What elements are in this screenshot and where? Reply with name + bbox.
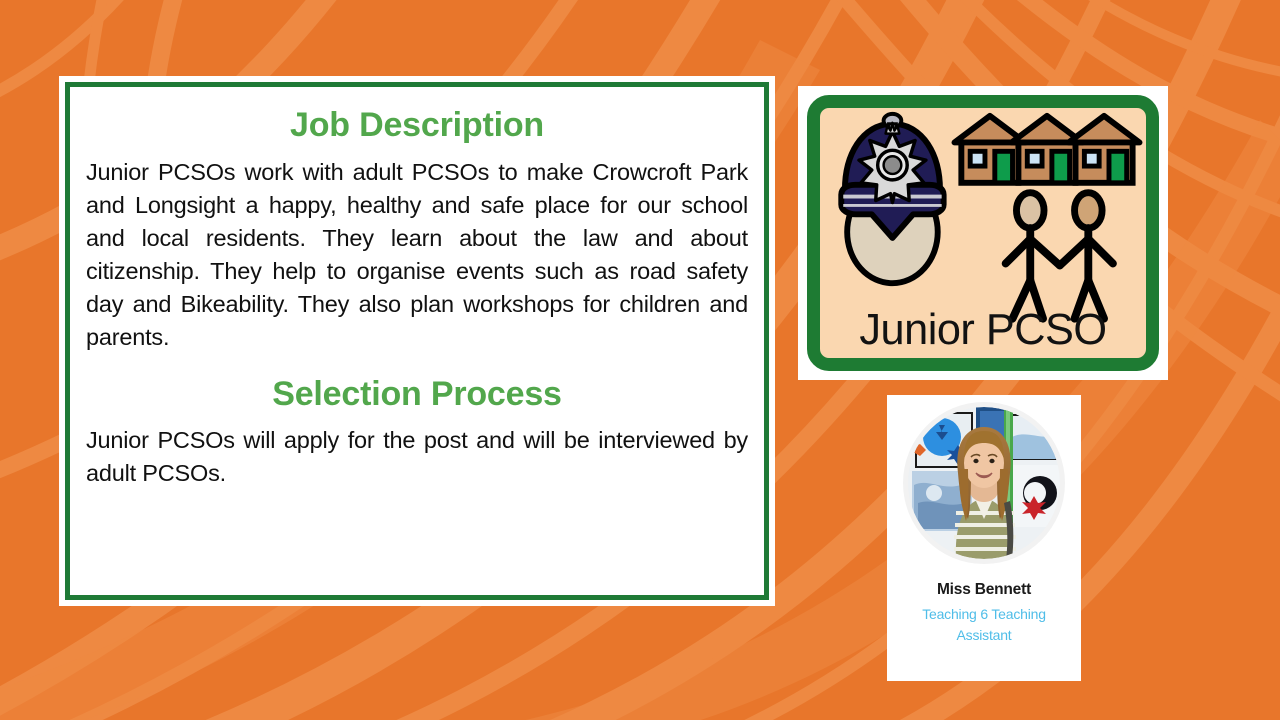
houses-icon [954,116,1139,183]
junior-pcso-logo-frame: Junior PCSO [807,95,1159,371]
staff-avatar [908,407,1060,559]
staff-name: Miss Bennett [887,581,1081,599]
junior-pcso-illustration: Junior PCSO [820,108,1146,358]
people-icon [1006,193,1113,319]
job-description-heading: Job Description [86,107,748,144]
junior-pcso-logo-card: Junior PCSO [798,86,1168,380]
police-helmet-icon [841,114,943,283]
junior-pcso-caption: Junior PCSO [859,306,1106,354]
job-description-paragraph: Junior PCSOs work with adult PCSOs to ma… [86,156,748,354]
selection-process-heading: Selection Process [86,376,748,413]
job-description-panel: Job Description Junior PCSOs work with a… [59,76,775,606]
selection-process-paragraph: Junior PCSOs will apply for the post and… [86,424,748,490]
staff-portrait-photo [908,407,1060,559]
job-description-panel-inner: Job Description Junior PCSOs work with a… [65,82,769,600]
staff-card: Miss Bennett Teaching 6 Teaching Assista… [887,395,1081,681]
staff-role: Teaching 6 Teaching Assistant [887,604,1081,646]
